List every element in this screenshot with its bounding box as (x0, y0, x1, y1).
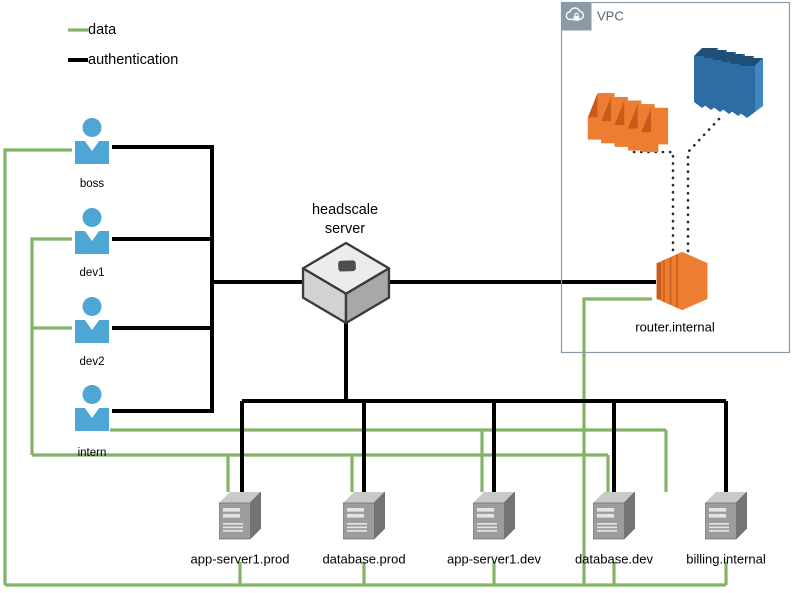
server-icon (473, 492, 515, 540)
data-link-boss (5, 150, 72, 585)
legend-item-authentication: authentication (68, 52, 178, 68)
server-label-database-dev: database.dev (575, 551, 654, 566)
server-node-app-server1-prod[interactable]: app-server1.prod (191, 492, 290, 566)
legend-item-data: data (68, 22, 117, 38)
user-icon (75, 118, 109, 164)
headscale-label-line1: headscale (312, 202, 378, 218)
user-icon (75, 385, 109, 431)
diagram-canvas: VPC router.internal boss dev1 dev2 inter… (0, 0, 792, 593)
server-icon (593, 492, 635, 540)
legend-label-authentication: authentication (88, 52, 178, 68)
aws-router-icon (657, 252, 708, 310)
server-label-database-prod: database.prod (322, 551, 405, 566)
user-label-dev1: dev1 (80, 267, 105, 279)
router-label: router.internal (635, 319, 715, 334)
legend-label-data: data (88, 22, 117, 38)
network-diagram: VPC router.internal boss dev1 dev2 inter… (0, 0, 792, 593)
headscale-label-line2: server (325, 221, 365, 237)
user-label-intern: intern (78, 447, 107, 459)
cube-icon (303, 243, 389, 323)
user-icon (75, 208, 109, 254)
server-icon (343, 492, 385, 540)
server-node-database-dev[interactable]: database.dev (575, 492, 654, 566)
vpc-label: VPC (597, 8, 624, 23)
user-label-dev2: dev2 (80, 356, 105, 368)
server-label-billing-internal: billing.internal (686, 551, 766, 566)
user-node-intern[interactable]: intern (75, 385, 109, 459)
server-label-app-server1-dev: app-server1.dev (447, 551, 541, 566)
user-node-dev1[interactable]: dev1 (75, 208, 109, 279)
server-icon (705, 492, 747, 540)
user-node-boss[interactable]: boss (75, 118, 109, 190)
headscale-server-node[interactable]: headscale server (303, 202, 389, 323)
server-node-database-prod[interactable]: database.prod (322, 492, 405, 566)
server-label-app-server1-prod: app-server1.prod (191, 551, 290, 566)
user-icon (75, 297, 109, 343)
server-icon (219, 492, 261, 540)
user-node-dev2[interactable]: dev2 (75, 297, 109, 368)
server-node-app-server1-dev[interactable]: app-server1.dev (447, 492, 541, 566)
user-label-boss: boss (80, 178, 105, 190)
data-link-dev1 (32, 239, 72, 455)
server-node-billing-internal[interactable]: billing.internal (686, 492, 766, 566)
legend: data authentication (68, 22, 178, 68)
